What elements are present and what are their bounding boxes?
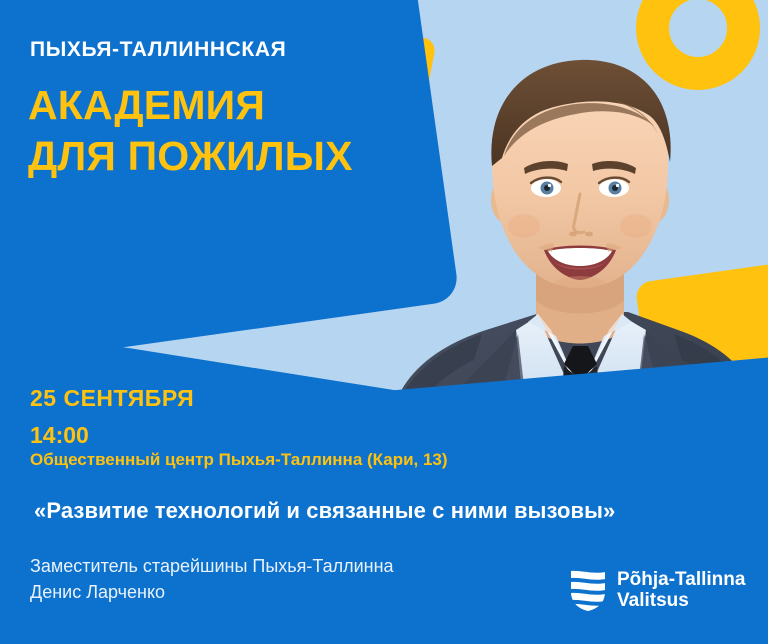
event-venue: Общественный центр Пыхья-Таллинна (Кари,… (30, 450, 448, 470)
speaker-info: Заместитель старейшины Пыхья-Таллинна Де… (30, 553, 394, 606)
shield-waves-icon (570, 568, 606, 612)
logo-line-2: Valitsus (617, 590, 745, 611)
poster-kicker: ПЫХЬЯ-ТАЛЛИННСКАЯ (30, 38, 286, 61)
logo-wordmark: Põhja-Tallinna Valitsus (617, 569, 745, 612)
event-poster: ПЫХЬЯ-ТАЛЛИННСКАЯ АКАДЕМИЯ ДЛЯ ПОЖИЛЫХ 2… (0, 0, 768, 644)
logo-line-1: Põhja-Tallinna (617, 569, 745, 590)
event-date: 25 СЕНТЯБРЯ (30, 385, 194, 412)
lecture-title: «Развитие технологий и связанные с ними … (34, 498, 615, 524)
poster-title: АКАДЕМИЯ ДЛЯ ПОЖИЛЫХ (28, 80, 353, 182)
event-time: 14:00 (30, 422, 89, 449)
yellow-ring-decoration (636, 0, 760, 90)
organization-logo[interactable]: Põhja-Tallinna Valitsus (570, 568, 745, 612)
